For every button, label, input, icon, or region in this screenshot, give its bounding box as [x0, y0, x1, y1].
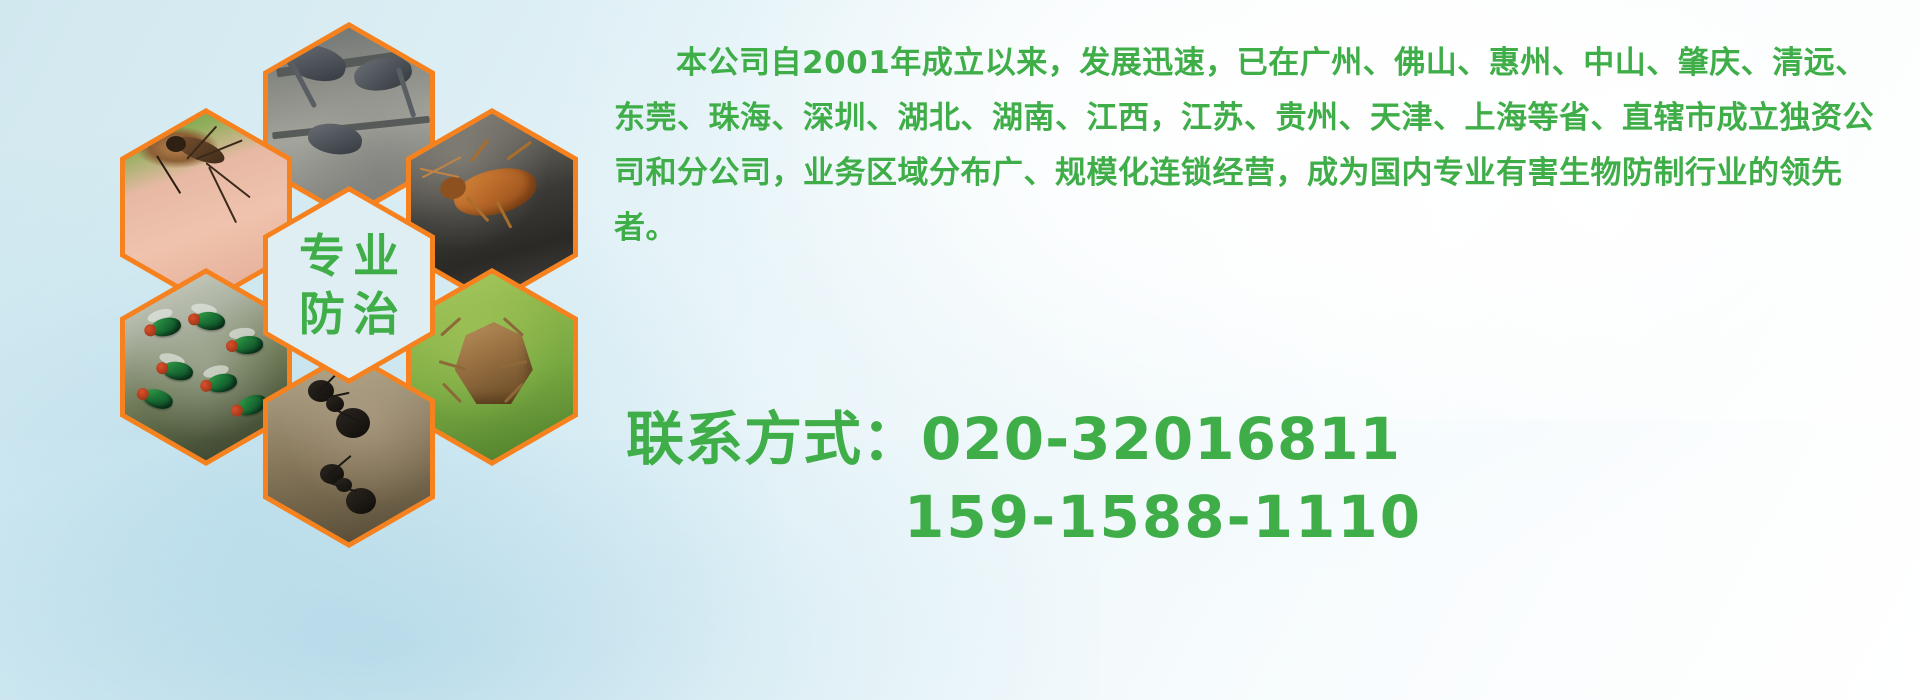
- hexagon-photo-cluster: 专业 防治: [80, 0, 600, 580]
- company-intro: 本公司自2001年成立以来，发展迅速，已在广州、佛山、惠州、中山、肇庆、清远、东…: [614, 36, 1874, 256]
- hex-inner-slogan: 专业 防治: [268, 192, 430, 379]
- company-intro-paragraph: 本公司自2001年成立以来，发展迅速，已在广州、佛山、惠州、中山、肇庆、清远、东…: [614, 36, 1874, 256]
- pest-control-banner: 专业 防治 本公司自2001年成立以来，发展迅速，已在广州、佛山、惠州、中山、肇…: [0, 0, 1920, 700]
- phone-mobile[interactable]: 159-1588-1110: [904, 483, 1422, 551]
- stink-bug-image: [411, 274, 573, 461]
- contact-line-mobile: 159-1588-1110: [614, 478, 1884, 556]
- slogan-text: 专业 防治: [268, 192, 430, 379]
- slogan-line-2: 防治: [291, 290, 407, 338]
- contact-line-landline: 联系方式：020-32016811: [614, 400, 1884, 478]
- hex-inner-flies: [125, 274, 287, 461]
- contact-block: 联系方式：020-32016811 159-1588-1110: [614, 400, 1884, 556]
- contact-label: 联系方式：: [626, 405, 921, 473]
- hex-inner-stink-bug: [411, 274, 573, 461]
- phone-landline[interactable]: 020-32016811: [921, 405, 1401, 473]
- flies-image: [125, 274, 287, 461]
- slogan-line-1: 专业: [291, 232, 407, 280]
